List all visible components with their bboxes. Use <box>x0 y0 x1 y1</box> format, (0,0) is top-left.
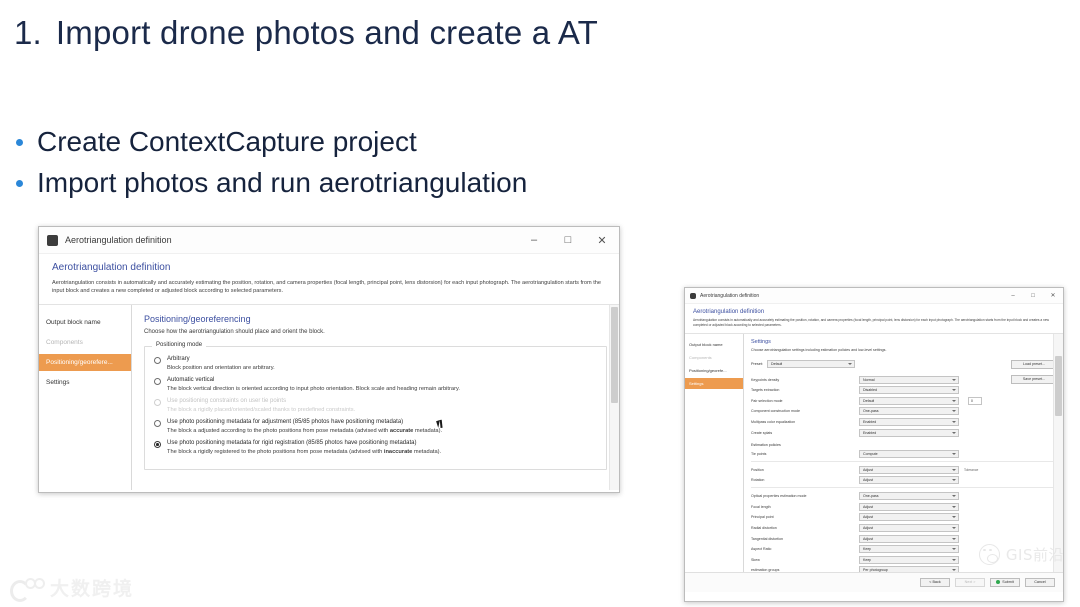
pane-subtitle: Choose aerotriangulation settings includ… <box>751 348 1057 352</box>
preset-value: Default <box>771 362 782 366</box>
list-item: Import photos and run aerotriangulation <box>16 167 527 199</box>
setting-value: Keep <box>863 558 871 562</box>
setting-label: Keypoints density <box>751 378 859 382</box>
setting-tangential-distortion: Tangential distortion Adjust <box>751 535 1057 543</box>
setting-value: Adjust <box>863 468 873 472</box>
title-bar: Aerotriangulation definition – □ ✕ <box>685 288 1063 304</box>
dialog-body: Output block name Components Positioning… <box>685 334 1063 572</box>
setting-select[interactable]: Enabled <box>859 429 959 437</box>
load-preset-button[interactable]: Load preset... <box>1011 360 1057 369</box>
bullet-dot-icon <box>16 139 23 146</box>
neighbor-count-input[interactable]: 0 <box>968 397 982 405</box>
sidebar-item-positioning-georeferencing[interactable]: Positioning/georefere... <box>39 354 131 371</box>
setting-label: Skew <box>751 558 859 562</box>
setting-label: Create splats <box>751 431 859 435</box>
setting-select[interactable]: Adjust <box>859 503 959 511</box>
setting-value: Default <box>863 399 874 403</box>
setting-pair-selection-mode: Pair selection mode Default 0 <box>751 397 1057 405</box>
chevron-down-icon <box>952 421 956 423</box>
setting-select[interactable]: Adjust <box>859 476 959 484</box>
setting-value: Adjust <box>863 478 873 482</box>
radio-icon[interactable] <box>154 378 161 385</box>
dialog-header-description: Aerotriangulation consists in automatica… <box>52 279 606 295</box>
submit-button[interactable]: Submit <box>990 578 1020 587</box>
setting-focal-length: Focal length Adjust <box>751 503 1057 511</box>
chevron-down-icon <box>952 527 956 529</box>
close-icon[interactable]: ✕ <box>585 227 619 253</box>
chevron-down-icon <box>952 389 956 391</box>
radio-description: The block a rigidly placed/oriented/scal… <box>167 407 597 413</box>
radio-description: Block position and orientation are arbit… <box>167 365 597 371</box>
bullet-dot-icon <box>16 180 23 187</box>
setting-value: Adjust <box>863 515 873 519</box>
chevron-down-icon <box>952 469 956 471</box>
sidebar-item-settings[interactable]: Settings <box>39 374 131 391</box>
radio-option-automatic-vertical[interactable]: Automatic vertical <box>154 377 597 384</box>
pane-title: Positioning/georeferencing <box>144 314 607 324</box>
chevron-down-icon <box>952 432 956 434</box>
setting-value: One-pass <box>863 494 879 498</box>
dialog-footer: < Back Next > Submit Cancel <box>685 572 1063 592</box>
setting-value: One-pass <box>863 409 879 413</box>
radio-description: The block a rigidly registered to the ph… <box>167 449 597 455</box>
desc-emphasis: accurate <box>390 428 413 434</box>
radio-label: Use photo positioning metadata for rigid… <box>167 440 417 446</box>
estimation-policies-heading: Estimation policies <box>751 443 1057 447</box>
setting-label: Tangential distortion <box>751 537 859 541</box>
setting-label: Component construction mode <box>751 409 859 413</box>
setting-label: Focal length <box>751 505 859 509</box>
radio-label: Arbitrary <box>167 356 190 362</box>
radio-option-metadata-rigid-registration[interactable]: Use photo positioning metadata for rigid… <box>154 440 597 447</box>
pane-title: Settings <box>751 339 1057 345</box>
scrollbar-thumb[interactable] <box>1055 356 1062 416</box>
setting-value: Per photogroup <box>863 568 888 571</box>
setting-optical-properties-estimation-mode: Optical properties estimation mode One-p… <box>751 492 1057 500</box>
policy-tie-points: Tie points Compute <box>751 450 1057 458</box>
setting-label: Optical properties estimation mode <box>751 494 859 498</box>
setting-label: Rotation <box>751 478 859 482</box>
setting-value: Normal <box>863 378 875 382</box>
setting-label: Targets extraction <box>751 388 859 392</box>
group-legend: Positioning mode <box>152 342 206 348</box>
policy-rotation: Rotation Adjust <box>751 476 1057 484</box>
bullet-text: Create ContextCapture project <box>37 126 417 158</box>
chevron-down-icon <box>952 495 956 497</box>
chevron-down-icon <box>952 506 956 508</box>
setting-value: Enabled <box>863 431 876 435</box>
minimize-icon[interactable]: – <box>1003 288 1023 303</box>
setting-value: Enabled <box>863 420 876 424</box>
chevron-down-icon <box>952 569 956 571</box>
setting-label: Radial distortion <box>751 526 859 530</box>
close-icon[interactable]: ✕ <box>1043 288 1063 303</box>
save-preset-button[interactable]: Save preset... <box>1011 375 1057 384</box>
title-bar: Aerotriangulation definition – □ ✕ <box>39 227 619 254</box>
dialog-body: Output block name Components Positioning… <box>39 305 619 490</box>
desc-pre: The block a rigidly registered to the ph… <box>167 449 384 455</box>
back-button[interactable]: < Back <box>920 578 950 587</box>
sidebar-item-output-block-name[interactable]: Output block name <box>685 339 743 350</box>
tolerance-label: Tolerance <box>964 468 978 472</box>
setting-label: Principal point <box>751 515 859 519</box>
setting-value: Adjust <box>863 505 873 509</box>
vertical-scrollbar[interactable] <box>1053 334 1063 572</box>
sidebar-item-components: Components <box>39 334 131 351</box>
setting-select[interactable]: Adjust <box>859 513 959 521</box>
chevron-down-icon <box>952 379 956 381</box>
desc-post: metadata). <box>413 428 442 434</box>
aerotriangulation-positioning-dialog: Aerotriangulation definition – □ ✕ Aerot… <box>38 226 620 493</box>
sidebar-item-output-block-name[interactable]: Output block name <box>39 314 131 331</box>
window-title: Aerotriangulation definition <box>700 293 1003 299</box>
app-logo-icon <box>47 235 58 246</box>
chevron-down-icon <box>952 410 956 412</box>
cancel-button[interactable]: Cancel <box>1025 578 1055 587</box>
radio-icon[interactable] <box>154 441 161 448</box>
wechat-icon <box>979 544 1000 565</box>
positioning-pane: Positioning/georeferencing Choose how th… <box>132 305 619 490</box>
slide-title-text: Import drone photos and create a AT <box>56 14 598 51</box>
radio-icon[interactable] <box>154 357 161 364</box>
setting-value: Disabled <box>863 388 877 392</box>
dialog-header-description: Aerotriangulation consists in automatica… <box>693 318 1055 328</box>
setting-select[interactable]: Adjust <box>859 535 959 543</box>
radio-icon[interactable] <box>154 420 161 427</box>
slide-number: 1. <box>14 14 42 51</box>
radio-label: Use photo positioning metadata for adjus… <box>167 419 403 425</box>
divider <box>751 461 1057 462</box>
setting-label: Position <box>751 468 859 472</box>
page-title: 1.Import drone photos and create a AT <box>14 14 598 52</box>
vertical-scrollbar[interactable] <box>609 305 619 490</box>
next-button: Next > <box>955 578 985 587</box>
radio-label: Use positioning constraints on user tie … <box>167 398 286 404</box>
submit-icon <box>996 580 1000 584</box>
dialog-header-title: Aerotriangulation definition <box>693 309 1055 315</box>
setting-select[interactable]: One-pass <box>859 492 959 500</box>
setting-value: Keep <box>863 547 871 551</box>
setting-label: Pair selection mode <box>751 399 859 403</box>
setting-select[interactable]: Per photogroup <box>859 566 959 571</box>
setting-label: Multipass color equalization <box>751 420 859 424</box>
radio-description: The block vertical direction is oriented… <box>167 386 597 392</box>
setting-value: Adjust <box>863 526 873 530</box>
sidebar-item-settings[interactable]: Settings <box>685 378 743 389</box>
maximize-icon[interactable]: □ <box>1023 288 1043 303</box>
scrollbar-thumb[interactable] <box>611 307 618 403</box>
chevron-down-icon <box>952 559 956 561</box>
setting-select[interactable]: Keep <box>859 545 959 553</box>
radio-option-arbitrary[interactable]: Arbitrary <box>154 356 597 363</box>
pane-subtitle: Choose how the aerotriangulation should … <box>144 329 607 335</box>
setting-select[interactable]: One-pass <box>859 407 959 415</box>
setting-select[interactable]: Enabled <box>859 418 959 426</box>
brand-logo-icon <box>10 577 44 599</box>
setting-component-construction-mode: Component construction mode One-pass <box>751 407 1057 415</box>
setting-select[interactable]: Normal <box>859 376 959 384</box>
watermark-bottom-left: 大数跨境 <box>10 574 134 601</box>
chevron-down-icon <box>952 479 956 481</box>
desc-emphasis: inaccurate <box>384 449 412 455</box>
dialog-header-title: Aerotriangulation definition <box>52 262 606 273</box>
preset-select[interactable]: Default <box>767 360 855 368</box>
setting-multipass-color-equalization: Multipass color equalization Enabled <box>751 418 1057 426</box>
radio-description: The block a adjusted according to the ph… <box>167 428 597 434</box>
setting-label: estimation groups <box>751 568 859 571</box>
chevron-down-icon <box>952 516 956 518</box>
dialog-header: Aerotriangulation definition Aerotriangu… <box>685 304 1063 334</box>
window-controls: – □ ✕ <box>1003 288 1063 303</box>
app-logo-icon <box>690 293 696 299</box>
setting-select[interactable]: Compute <box>859 450 959 458</box>
setting-create-splats: Create splats Enabled <box>751 429 1057 437</box>
desc-pre: The block a adjusted according to the ph… <box>167 428 390 434</box>
setting-targets-extraction: Targets extraction Disabled <box>751 386 1057 394</box>
bullet-text: Import photos and run aerotriangulation <box>37 167 527 199</box>
watermark-bottom-right: GIS前沿 <box>979 544 1064 565</box>
dialog-header: Aerotriangulation definition Aerotriangu… <box>39 254 619 305</box>
setting-select[interactable]: Adjust <box>859 466 959 474</box>
sidebar-item-components: Components <box>685 352 743 363</box>
list-item: Create ContextCapture project <box>16 126 527 158</box>
maximize-icon[interactable]: □ <box>551 227 585 253</box>
setting-value: Compute <box>863 452 878 456</box>
setting-radial-distortion: Radial distortion Adjust <box>751 524 1057 532</box>
setting-select[interactable]: Disabled <box>859 386 959 394</box>
radio-icon <box>154 399 161 406</box>
setting-label: Aspect Ratio <box>751 547 859 551</box>
setting-select[interactable]: Keep <box>859 556 959 564</box>
radio-label: Automatic vertical <box>167 377 214 383</box>
preset-row: Preset: Default Load preset... <box>751 360 1057 369</box>
wizard-nav: Output block name Components Positioning… <box>685 334 744 572</box>
setting-label: Tie points <box>751 452 859 456</box>
minimize-icon[interactable]: – <box>517 227 551 253</box>
radio-option-metadata-adjustment[interactable]: Use photo positioning metadata for adjus… <box>154 419 597 426</box>
submit-button-label: Submit <box>1002 580 1013 584</box>
window-title: Aerotriangulation definition <box>65 235 517 245</box>
sidebar-item-positioning-georeferencing[interactable]: Positioning/georefe... <box>685 365 743 376</box>
setting-select[interactable]: Adjust <box>859 524 959 532</box>
watermark-right-text: GIS前沿 <box>1006 544 1064 565</box>
bullet-list: Create ContextCapture project Import pho… <box>16 126 527 208</box>
policy-position: Position Adjust Tolerance <box>751 466 1057 474</box>
settings-pane: Settings Choose aerotriangulation settin… <box>744 334 1063 572</box>
radio-option-positioning-constraints: Use positioning constraints on user tie … <box>154 398 597 405</box>
positioning-mode-group: Positioning mode Arbitrary Block positio… <box>144 346 607 470</box>
preset-label: Preset: <box>751 362 763 366</box>
window-controls: – □ ✕ <box>517 227 619 253</box>
chevron-down-icon <box>952 538 956 540</box>
divider <box>751 487 1057 488</box>
chevron-down-icon <box>952 548 956 550</box>
setting-value: Adjust <box>863 537 873 541</box>
settings-scroll-area: Save preset... Keypoints density Normal … <box>751 376 1057 572</box>
setting-estimation-groups: estimation groups Per photogroup <box>751 566 1057 571</box>
chevron-down-icon <box>848 363 852 365</box>
setting-principal-point: Principal point Adjust <box>751 513 1057 521</box>
chevron-down-icon <box>952 453 956 455</box>
watermark-left-text: 大数跨境 <box>50 574 134 601</box>
setting-select[interactable]: Default <box>859 397 959 405</box>
chevron-down-icon <box>952 400 956 402</box>
desc-post: metadata). <box>412 449 441 455</box>
wizard-nav: Output block name Components Positioning… <box>39 305 132 490</box>
